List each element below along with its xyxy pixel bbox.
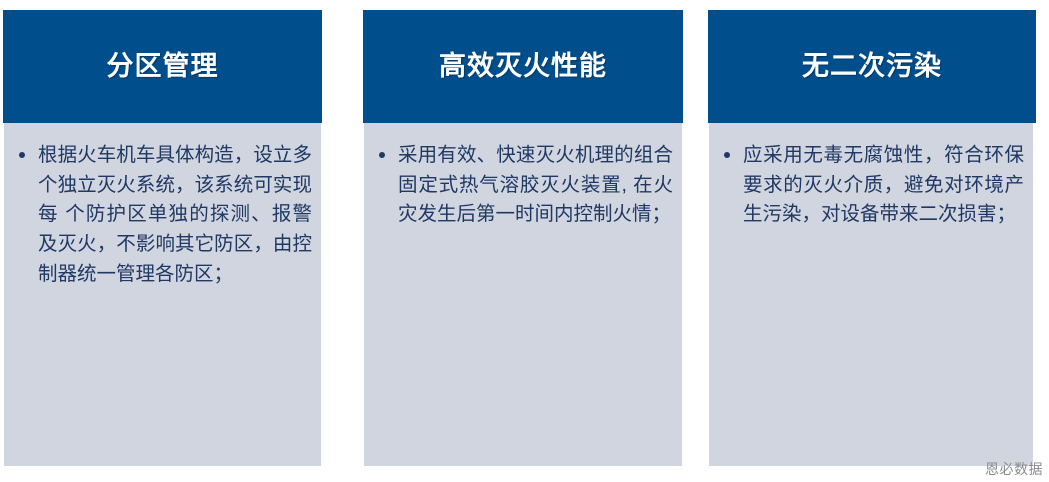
feature-card-3: 无二次污染 应采用无毒无腐蚀性，符合环保要求的灭火介质，避免对环境产生污染，对设…: [708, 10, 1036, 466]
card-1-bullet-text: 根据火车机车具体构造，设立多个独立灭火系统，该系统可实现每 个防护区单独的探测、…: [38, 144, 312, 285]
card-3-header: 无二次污染: [708, 10, 1036, 123]
card-3-body: 应采用无毒无腐蚀性，符合环保要求的灭火介质，避免对环境产生污染，对设备带来二次损…: [709, 123, 1033, 466]
bullet-dot-icon: [379, 152, 385, 158]
card-3-title: 无二次污染: [802, 52, 942, 82]
list-item: 应采用无毒无腐蚀性，符合环保要求的灭火介质，避免对环境产生污染，对设备带来二次损…: [721, 141, 1024, 230]
card-2-body: 采用有效、快速灭火机理的组合固定式热气溶胶灭火装置, 在火灾发生后第一时间内控制…: [364, 123, 682, 466]
list-item: 采用有效、快速灭火机理的组合固定式热气溶胶灭火装置, 在火灾发生后第一时间内控制…: [376, 141, 673, 230]
card-3-bullet-text: 应采用无毒无腐蚀性，符合环保要求的灭火介质，避免对环境产生污染，对设备带来二次损…: [743, 144, 1024, 225]
card-3-bullet-list: 应采用无毒无腐蚀性，符合环保要求的灭火介质，避免对环境产生污染，对设备带来二次损…: [721, 141, 1024, 230]
bullet-dot-icon: [724, 152, 730, 158]
card-1-bullet-list: 根据火车机车具体构造，设立多个独立灭火系统，该系统可实现每 个防护区单独的探测、…: [16, 141, 312, 289]
card-2-title: 高效灭火性能: [439, 52, 607, 82]
card-2-bullet-list: 采用有效、快速灭火机理的组合固定式热气溶胶灭火装置, 在火灾发生后第一时间内控制…: [376, 141, 673, 230]
feature-card-1: 分区管理 根据火车机车具体构造，设立多个独立灭火系统，该系统可实现每 个防护区单…: [3, 10, 322, 466]
watermark-label: 恩必数据: [985, 459, 1043, 479]
card-1-body: 根据火车机车具体构造，设立多个独立灭火系统，该系统可实现每 个防护区单独的探测、…: [4, 123, 321, 466]
list-item: 根据火车机车具体构造，设立多个独立灭火系统，该系统可实现每 个防护区单独的探测、…: [16, 141, 312, 289]
card-1-title: 分区管理: [107, 52, 219, 82]
bullet-dot-icon: [19, 152, 25, 158]
feature-card-2: 高效灭火性能 采用有效、快速灭火机理的组合固定式热气溶胶灭火装置, 在火灾发生后…: [363, 10, 683, 466]
card-2-header: 高效灭火性能: [363, 10, 683, 123]
slide-canvas: 分区管理 根据火车机车具体构造，设立多个独立灭火系统，该系统可实现每 个防护区单…: [0, 0, 1049, 482]
card-1-header: 分区管理: [3, 10, 322, 123]
card-2-bullet-text: 采用有效、快速灭火机理的组合固定式热气溶胶灭火装置, 在火灾发生后第一时间内控制…: [398, 144, 673, 225]
